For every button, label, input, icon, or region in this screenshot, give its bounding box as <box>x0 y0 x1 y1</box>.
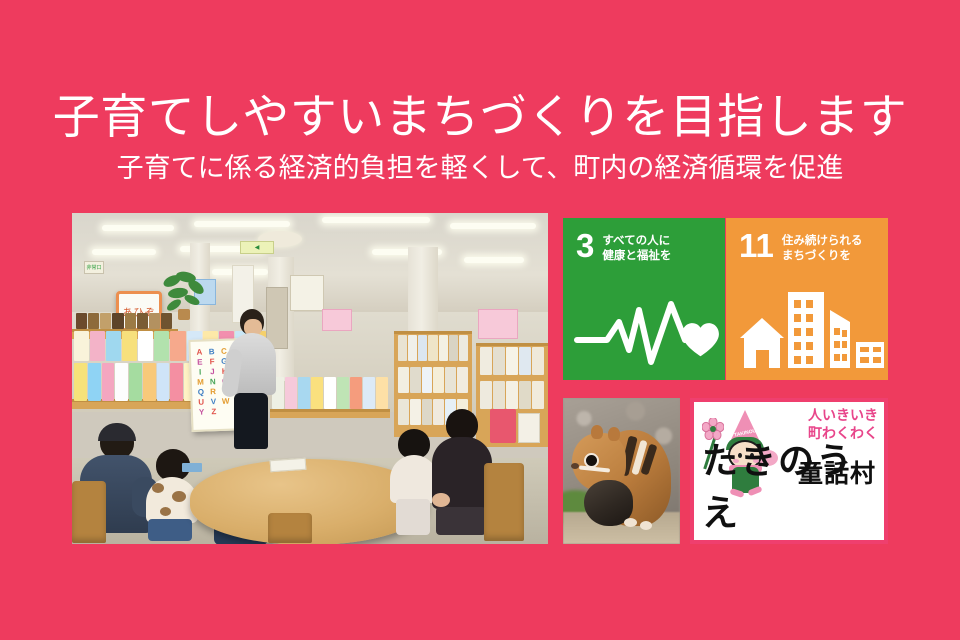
chair <box>268 513 312 543</box>
wall-poster-pink <box>322 309 352 331</box>
heartbeat-pulse-icon <box>563 288 725 372</box>
alphabet-letter: M <box>195 377 207 386</box>
sdg-11-label-line2: まちづくりを <box>782 249 863 264</box>
alphabet-letter: U <box>195 397 207 406</box>
chair <box>484 463 524 541</box>
sdg-goal-11-badge: 11 住み続けられる まちづくりを <box>726 218 888 380</box>
alphabet-letter: E <box>194 357 206 366</box>
sdg-3-label-line2: 健康と福祉を <box>602 249 671 264</box>
chipmunk-ear <box>608 427 620 441</box>
parent-cap <box>98 423 136 441</box>
book-on-table <box>182 463 202 472</box>
alphabet-letter: B <box>206 347 218 356</box>
cheek-stripe <box>579 465 610 472</box>
shirt-pattern <box>160 507 171 516</box>
slide-root: 子育てしやすいまちづくりを目指します 子育てに係る経済的負担を軽くして、町内の経… <box>0 0 960 640</box>
town-logo-panel: TAKINOUE 人いきいき 町わくわく 童話村 <box>690 398 888 544</box>
sdg-3-number: 3 <box>576 232 594 260</box>
page-title: 子育てしやすいまちづくりを目指します <box>0 92 960 143</box>
parent-legs <box>436 507 486 535</box>
library-photo: 非常口 ◀ あひぞ <box>72 213 548 544</box>
alphabet-letter: N <box>207 377 219 386</box>
alphabet-letter: A <box>194 347 206 356</box>
wall-poster-pink <box>478 309 518 339</box>
staff-pants <box>234 393 268 449</box>
alphabet-letter: J <box>207 367 219 376</box>
town-name: たきのうえ <box>702 432 884 536</box>
library-staff <box>224 309 280 451</box>
town-logo: TAKINOUE 人いきいき 町わくわく 童話村 <box>694 402 884 540</box>
book-row <box>480 347 544 375</box>
ceiling-light <box>92 249 156 255</box>
page-subtitle: 子育てに係る経済的負担を軽くして、町内の経済循環を促進 <box>0 152 960 184</box>
sdg-11-number: 11 <box>739 232 774 260</box>
alphabet-letter: I <box>194 367 206 376</box>
alphabet-letter: F <box>206 357 218 366</box>
headline-block: 子育てしやすいまちづくりを目指します 子育てに係る経済的負担を軽くして、町内の経… <box>0 92 960 184</box>
sdg-3-label-line1: すべての人に <box>602 234 671 249</box>
sdg-3-label: すべての人に 健康と福祉を <box>602 232 671 264</box>
ceiling-light <box>464 257 524 263</box>
sdg-11-label-line1: 住み続けられる <box>782 234 863 249</box>
logo-tagline-line1: 人いきいき <box>808 407 878 425</box>
open-book-on-table <box>270 458 307 472</box>
display-shelf <box>270 409 390 418</box>
city-buildings-icon <box>726 288 888 372</box>
picture-book-row <box>272 377 388 409</box>
child-pants <box>396 499 430 535</box>
chipmunk-nose <box>571 463 579 469</box>
chipmunk-eye <box>586 455 597 466</box>
ceiling-light <box>102 225 174 231</box>
alphabet-letter: Y <box>196 407 208 416</box>
chipmunk-ear <box>591 425 603 439</box>
sdg-goal-3-badge: 3 すべての人に 健康と福祉を <box>563 218 725 380</box>
shirt-pattern <box>172 491 186 502</box>
emergency-exit-sign: 非常口 <box>84 261 104 274</box>
parent-hand <box>432 493 450 507</box>
alphabet-letter: Z <box>208 407 220 416</box>
chipmunk-paw <box>640 521 652 530</box>
ceiling-light <box>194 221 290 227</box>
chair <box>72 481 106 543</box>
book-row <box>76 313 172 329</box>
sdg-3-header: 3 すべての人に 健康と福祉を <box>563 218 725 264</box>
chipmunk-paw <box>624 518 637 527</box>
direction-sign: ◀ <box>240 241 274 254</box>
sdg-11-header: 11 住み続けられる まちづくりを <box>726 218 888 264</box>
book-row <box>398 335 468 361</box>
shirt-pattern <box>152 483 164 493</box>
alphabet-letter: Q <box>195 387 207 396</box>
alphabet-letter: V <box>208 397 220 406</box>
sdg-11-label: 住み続けられる まちづくりを <box>782 232 863 264</box>
ceiling-light <box>450 223 536 229</box>
book-row <box>480 381 544 409</box>
child-pants <box>148 519 192 541</box>
alphabet-letter: R <box>207 387 219 396</box>
notice-board <box>290 275 324 311</box>
chipmunk-photo <box>563 398 680 544</box>
book-row <box>398 367 468 393</box>
ceiling-light <box>322 217 430 223</box>
hanging-bag <box>518 413 540 443</box>
